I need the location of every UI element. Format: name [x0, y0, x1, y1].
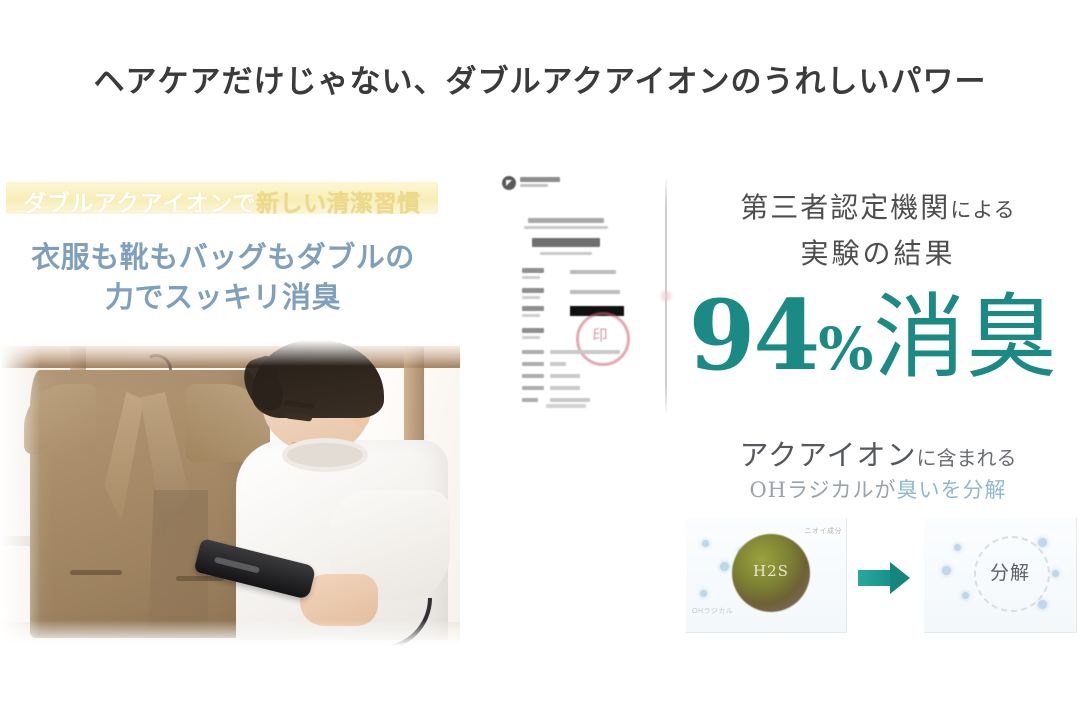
certificate-field-label-1-en	[522, 276, 540, 279]
molecule-dot	[702, 540, 709, 547]
certificate-row-value-6	[550, 362, 566, 366]
mechanism-highlight: 臭いを分解	[897, 478, 1007, 502]
certificate-field-label-3	[522, 306, 544, 311]
certificate-field-label-1	[522, 268, 544, 273]
molecule-dot	[1038, 600, 1047, 609]
mechanism-prefix: OHラジカルが	[749, 478, 896, 502]
diagram-note-odor: ニオイ成分	[768, 526, 842, 536]
certificate-field-value-2	[570, 290, 620, 294]
diagram-note-radical: OHラジカル	[692, 606, 772, 616]
photo-fade-left	[0, 340, 40, 646]
deodorize-rate-kanji: 消臭	[873, 284, 1057, 391]
photo-fade-top	[0, 340, 460, 366]
certificate-org-line-en	[524, 226, 608, 229]
mechanism-line2: OHラジカルが臭いを分解	[676, 474, 1080, 504]
certificate-subtitle	[540, 252, 592, 255]
page-title: ヘアケアだけじゃない、ダブルアクアイオンのうれしいパワー	[0, 56, 1080, 101]
deodorize-rate: 94%消臭	[666, 284, 1080, 401]
mechanism-main: アクアイオン	[739, 438, 916, 472]
certificate-row-label-6	[522, 362, 544, 366]
certificate-org-line	[528, 218, 604, 223]
highlight-suffix: 新しい清潔習慣	[256, 191, 421, 217]
certificate-row-label-9	[522, 398, 538, 402]
molecule-dot	[954, 544, 961, 551]
molecule-dot	[1052, 570, 1059, 577]
mechanism-line1: アクアイオンに含まれる	[676, 432, 1080, 474]
molecule-dot	[720, 562, 729, 571]
molecule-dot	[942, 566, 951, 575]
certificate-row-label-7	[522, 374, 544, 378]
person-collar	[282, 438, 368, 472]
left-subtitle-line2: 力でスッキリ消臭	[0, 274, 446, 316]
certificate-field-label-3-en	[522, 314, 540, 317]
certificate-field-label-2-en	[522, 296, 540, 299]
decomposition-diagram: H2S ニオイ成分 OHラジカル 分解	[686, 518, 1076, 638]
molecule-dot	[700, 590, 707, 597]
certificate-row-value-5	[550, 350, 620, 354]
mechanism-suffix: に含まれる	[917, 446, 1017, 470]
transform-arrow-head-icon	[890, 562, 910, 594]
certificate-row-value-8	[550, 386, 580, 390]
certificate-logo-text	[520, 177, 560, 182]
certificate-footer	[546, 404, 586, 408]
molecule-dot	[1038, 538, 1047, 547]
lifestyle-photo	[0, 340, 460, 646]
deodorize-rate-number: 94	[689, 279, 819, 392]
result-title-line1: 第三者認定機関による	[676, 186, 1080, 226]
certificate-row-label-8	[522, 386, 544, 390]
result-title-main: 第三者認定機関	[740, 191, 950, 224]
highlight-text: ダブルアクアイオンで新しい清潔習慣	[8, 184, 436, 218]
certificate-field-label-2	[522, 288, 544, 293]
certificate-field-value-1	[570, 270, 616, 274]
jacket-pocket-left	[70, 570, 122, 575]
certificate-field-label-4	[522, 328, 544, 333]
result-title-line2: 実験の結果	[676, 232, 1080, 272]
certificate-document: 印	[498, 172, 632, 420]
deodorize-rate-percent: %	[818, 315, 873, 383]
left-subtitle-line1: 衣服も靴もバッグもダブルの	[0, 234, 446, 276]
certificate-row-value-9	[550, 398, 590, 402]
decomposed-label: 分解	[974, 558, 1046, 585]
page-root: ヘアケアだけじゃない、ダブルアクアイオンのうれしいパワー ダブルアクアイオンで新…	[0, 0, 1080, 724]
certificate-row-value-7	[550, 374, 580, 378]
result-title-suffix: による	[950, 198, 1015, 222]
certificate-title	[532, 238, 600, 247]
certificate-logo-subtext	[520, 184, 548, 187]
molecule-dot	[962, 592, 969, 599]
certificate-stamp-glyph: 印	[590, 324, 610, 348]
certificate-row-label-5	[522, 350, 544, 354]
highlight-prefix: ダブルアクアイオンで	[23, 191, 256, 217]
photo-fade-bottom	[0, 620, 460, 646]
transform-arrow-icon	[858, 570, 892, 586]
certificate-field-label-4-en	[522, 336, 540, 339]
odor-molecule-label: H2S	[732, 562, 810, 580]
